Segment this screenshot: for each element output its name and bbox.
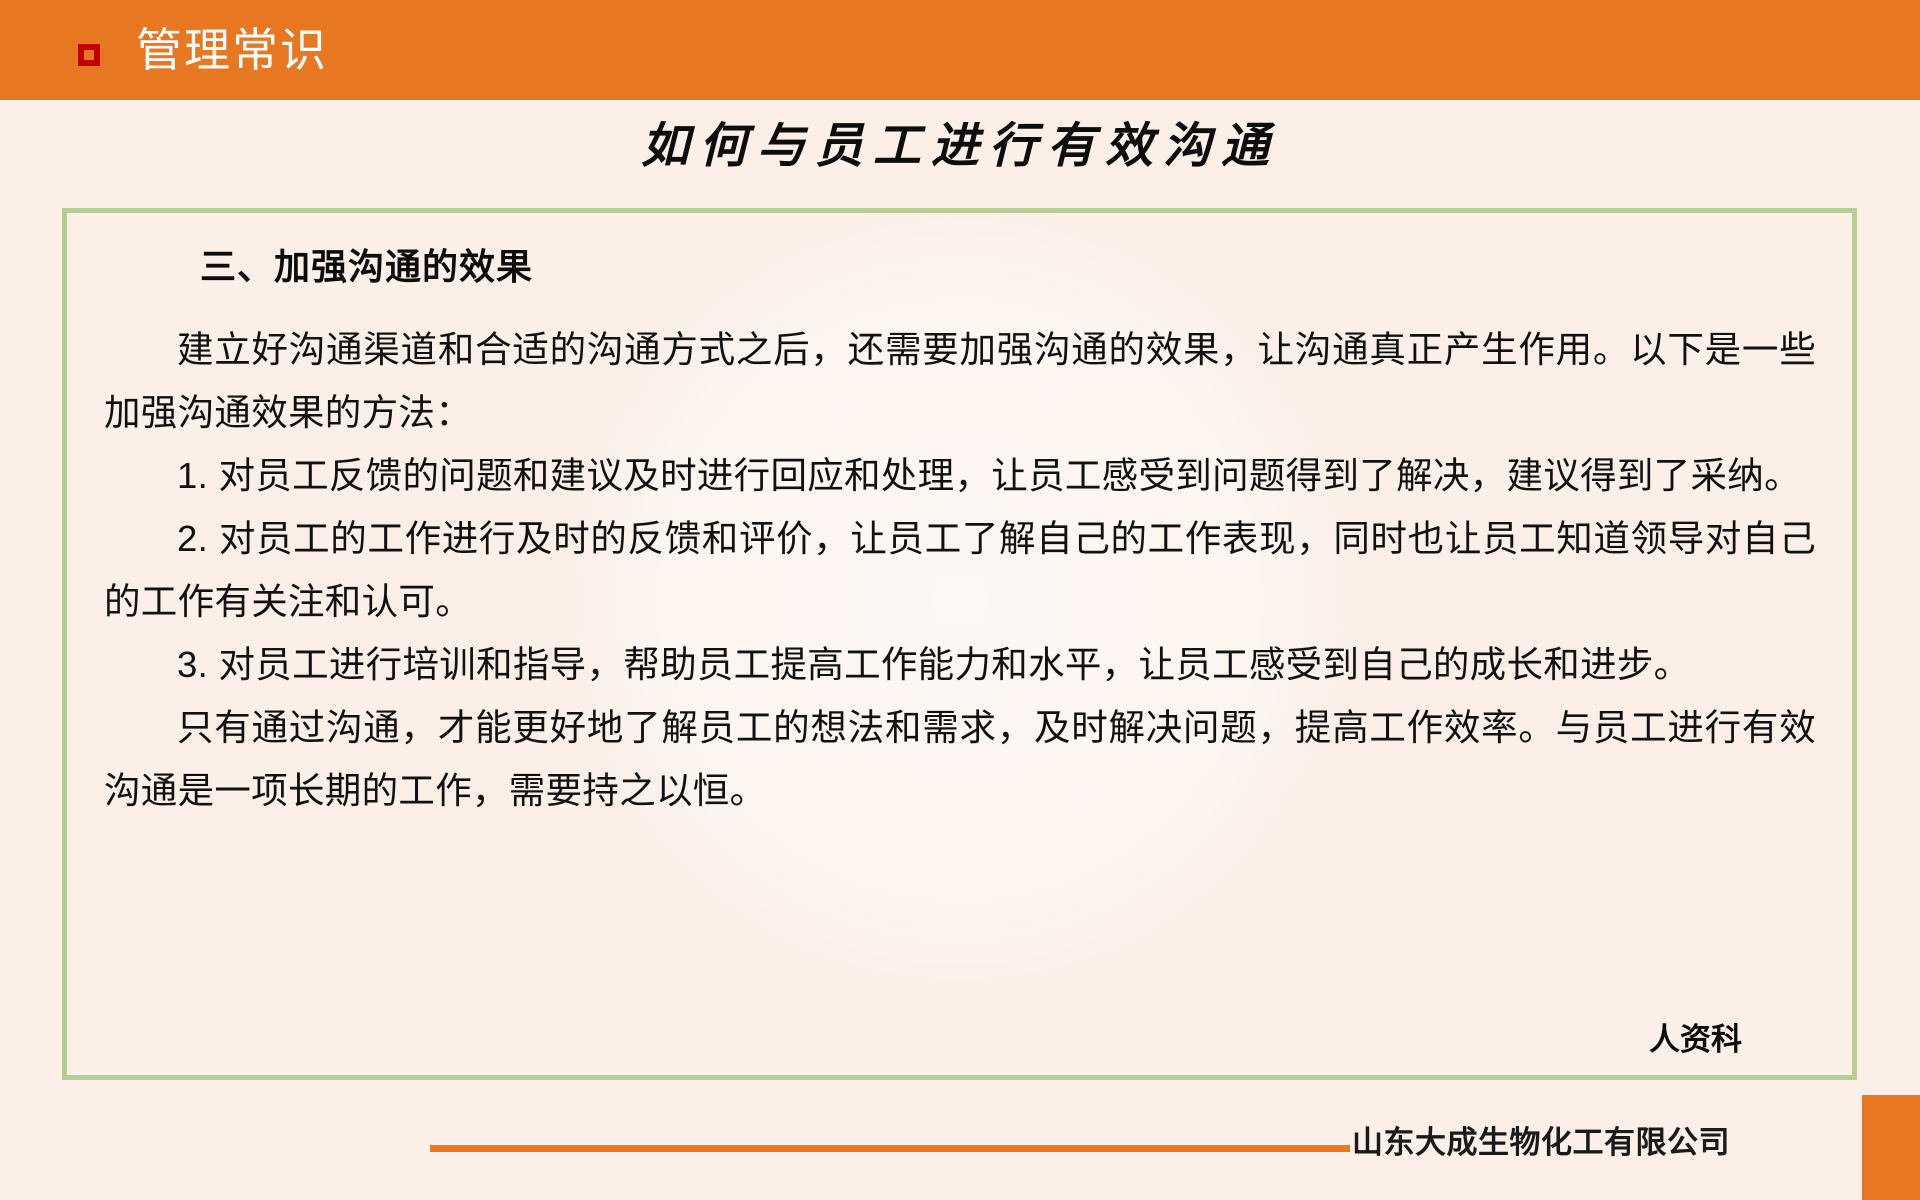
slide-canvas: 管理常识 如何与员工进行有效沟通 三、加强沟通的效果 建立好沟通渠道和合适的沟通… — [0, 0, 1920, 1200]
header-title: 管理常识 — [136, 21, 328, 79]
body-paragraph: 建立好沟通渠道和合适的沟通方式之后，还需要加强沟通的效果，让沟通真正产生作用。以… — [104, 318, 1816, 444]
section-heading: 三、加强沟通的效果 — [200, 238, 533, 290]
footer-accent-block — [1862, 1095, 1920, 1200]
signature: 人资科 — [0, 1014, 1790, 1059]
square-bullet-icon — [78, 44, 100, 66]
body-paragraph: 只有通过沟通，才能更好地了解员工的想法和需求，及时解决问题，提高工作效率。与员工… — [104, 696, 1816, 822]
body-paragraph: 1. 对员工反馈的问题和建议及时进行回应和处理，让员工感受到问题得到了解决，建议… — [104, 444, 1816, 507]
page-title: 如何与员工进行有效沟通 — [0, 106, 1920, 176]
body-text: 建立好沟通渠道和合适的沟通方式之后，还需要加强沟通的效果，让沟通真正产生作用。以… — [104, 318, 1816, 822]
header-bar: 管理常识 — [0, 0, 1920, 100]
body-paragraph: 2. 对员工的工作进行及时的反馈和评价，让员工了解自己的工作表现，同时也让员工知… — [104, 507, 1816, 633]
footer-company-name: 山东大成生物化工有限公司 — [1352, 1117, 1730, 1162]
footer-rule — [430, 1145, 1350, 1152]
body-paragraph: 3. 对员工进行培训和指导，帮助员工提高工作能力和水平，让员工感受到自己的成长和… — [104, 633, 1816, 696]
